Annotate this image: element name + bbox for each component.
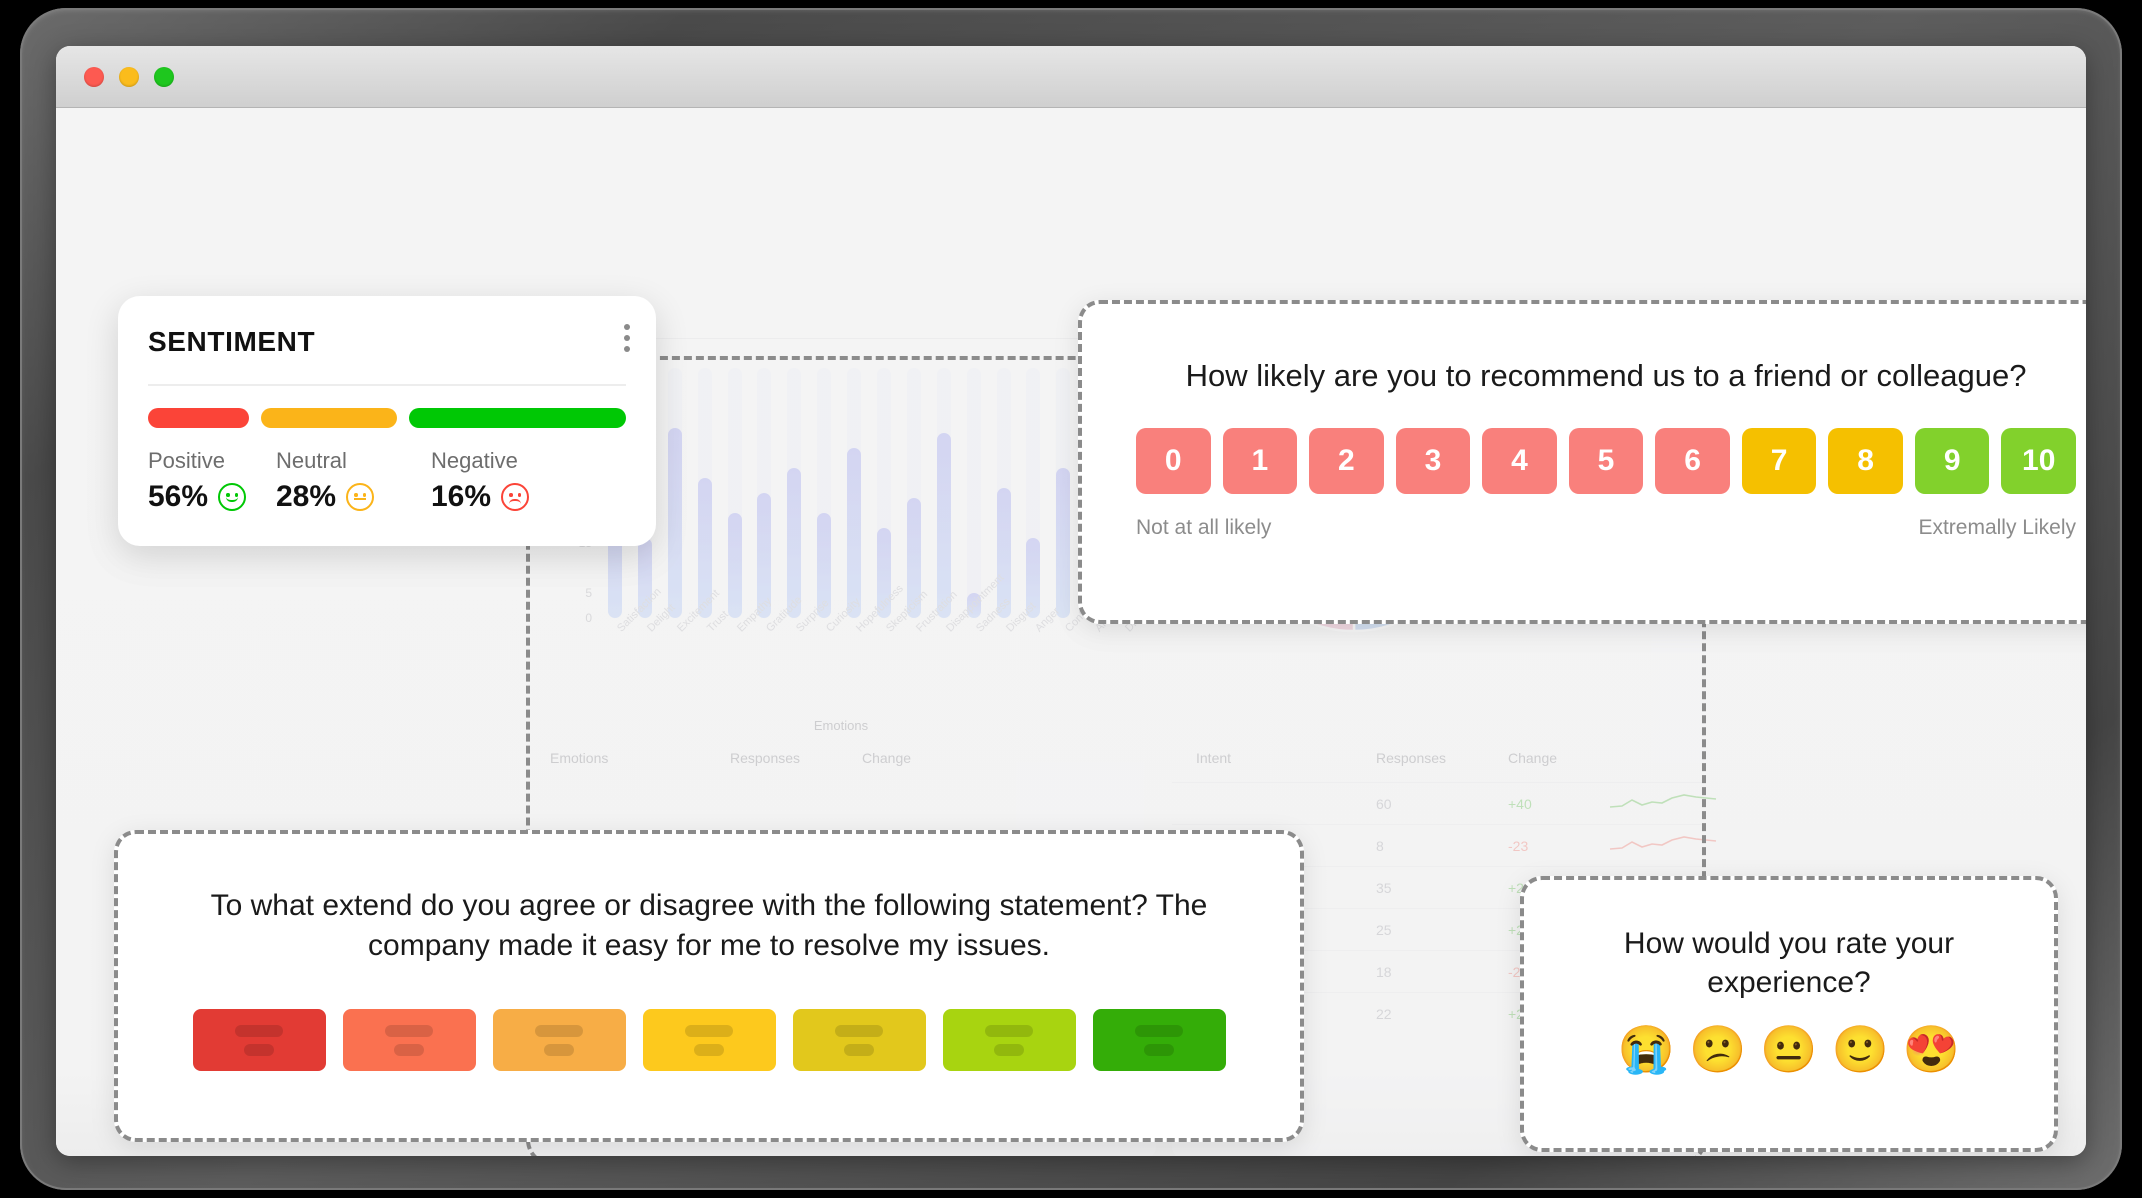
slightly-smiling-face-emoji[interactable]: 🙂	[1832, 1026, 1889, 1072]
nps-option-4[interactable]: 4	[1482, 428, 1557, 494]
bar-skepticism	[877, 368, 891, 618]
nps-option-3[interactable]: 3	[1396, 428, 1471, 494]
bar-trust	[698, 368, 712, 618]
page-title: SENTIMENT	[148, 326, 626, 358]
sentiment-stat-label: Negative	[431, 448, 529, 474]
minimize-window-button[interactable]	[119, 67, 139, 87]
sparkline-icon	[1608, 791, 1718, 816]
heart-eyes-face-emoji[interactable]: 😍	[1903, 1026, 1960, 1072]
window-titlebar	[56, 46, 2086, 108]
nps-option-6[interactable]: 6	[1655, 428, 1730, 494]
sad-face-icon	[501, 483, 529, 511]
nps-legend-right: Extremally Likely	[1918, 516, 2076, 540]
sentiment-stat-value: 16%	[431, 480, 529, 514]
cell-responses: 35	[1376, 880, 1508, 896]
bar-excitement	[668, 368, 682, 618]
neutral-face-emoji[interactable]: 😐	[1760, 1026, 1817, 1072]
confused-face-emoji[interactable]: 😕	[1689, 1026, 1746, 1072]
bar-surprise	[787, 368, 801, 618]
column-header-responses: Responses	[730, 750, 862, 766]
column-header-change: Change	[1508, 750, 1608, 766]
nps-question-text: How likely are you to recommend us to a …	[1136, 358, 2076, 394]
nps-question-card: How likely are you to recommend us to a …	[1078, 300, 2086, 624]
sentiment-stat-value: 28%	[276, 480, 431, 514]
column-header-change: Change	[862, 750, 962, 766]
bar-hopefulness	[847, 368, 861, 618]
agreement-question-card: To what extend do you agree or disagree …	[114, 830, 1304, 1142]
sentiment-stat-value: 56%	[148, 480, 276, 514]
kebab-menu-icon[interactable]	[624, 324, 630, 352]
nps-option-8[interactable]: 8	[1828, 428, 1903, 494]
nps-option-2[interactable]: 2	[1309, 428, 1384, 494]
bar-curiosity	[817, 368, 831, 618]
agreement-option-2[interactable]	[343, 1009, 476, 1071]
agreement-option-7[interactable]	[1093, 1009, 1226, 1071]
emotions-table-header: Emotions Responses Change	[526, 750, 1156, 782]
sentiment-bars	[148, 408, 626, 428]
agreement-option-4[interactable]	[643, 1009, 776, 1071]
cell-responses: 22	[1376, 1006, 1508, 1022]
app-canvas: Emotions 051520253035404550 Responses Em…	[56, 108, 2086, 1156]
nps-legend-left: Not at all likely	[1136, 516, 1271, 540]
bar-disappointment	[937, 368, 951, 618]
agreement-scale	[174, 1009, 1244, 1071]
close-window-button[interactable]	[84, 67, 104, 87]
sentiment-card: SENTIMENT Positive56%Neutral28%Negative1…	[118, 296, 656, 546]
agreement-option-1[interactable]	[193, 1009, 326, 1071]
intents-table-header: Intent Responses Change	[1172, 750, 1706, 782]
crying-face-emoji[interactable]: 😭	[1618, 1026, 1675, 1072]
divider	[148, 384, 626, 386]
nps-option-7[interactable]: 7	[1742, 428, 1817, 494]
nps-option-5[interactable]: 5	[1569, 428, 1644, 494]
bar-gratitude	[757, 368, 771, 618]
nps-option-1[interactable]: 1	[1223, 428, 1298, 494]
emotions-table: Emotions Responses Change	[526, 750, 1156, 782]
sentiment-stat-label: Positive	[148, 448, 276, 474]
sentiment-stat-negative: Negative16%	[431, 448, 529, 514]
sentiment-bar-negative	[148, 408, 249, 428]
sentiment-stats: Positive56%Neutral28%Negative16%	[148, 448, 626, 514]
rating-question-card: How would you rate your experience? 😭😕😐🙂…	[1520, 876, 2058, 1152]
column-header-emotions: Emotions	[550, 750, 730, 766]
maximize-window-button[interactable]	[154, 67, 174, 87]
sentiment-stat-label: Neutral	[276, 448, 431, 474]
agreement-option-3[interactable]	[493, 1009, 626, 1071]
happy-face-icon	[218, 483, 246, 511]
nps-option-10[interactable]: 10	[2001, 428, 2076, 494]
y-tick-label: 5	[566, 586, 592, 600]
bar-chart-x-axis-label: Emotions	[526, 718, 1156, 733]
nps-option-9[interactable]: 9	[1915, 428, 1990, 494]
cell-change: -23	[1508, 838, 1608, 854]
agreement-option-6[interactable]	[943, 1009, 1076, 1071]
y-tick-label: 0	[566, 611, 592, 625]
bar-confusion	[1056, 368, 1070, 618]
sentiment-bar-neutral	[261, 408, 397, 428]
neutral-face-icon	[346, 483, 374, 511]
nps-scale-legend: Not at all likely Extremally Likely	[1136, 516, 2076, 540]
sentiment-stat-neutral: Neutral28%	[276, 448, 431, 514]
bar-empathy	[728, 368, 742, 618]
table-row[interactable]: 60+40	[1172, 782, 1706, 824]
agreement-option-5[interactable]	[793, 1009, 926, 1071]
agreement-question-text: To what extend do you agree or disagree …	[174, 886, 1244, 965]
bar-frustration	[907, 368, 921, 618]
browser-window: Emotions 051520253035404550 Responses Em…	[56, 46, 2086, 1156]
cell-change: +40	[1508, 796, 1608, 812]
nps-option-0[interactable]: 0	[1136, 428, 1211, 494]
rating-emoji-scale: 😭😕😐🙂😍	[1564, 1026, 2014, 1072]
nps-scale: 012345678910	[1136, 428, 2076, 494]
rating-question-text: How would you rate your experience?	[1564, 924, 2014, 1002]
sentiment-stat-positive: Positive56%	[148, 448, 276, 514]
emotions-bar-chart	[600, 368, 1138, 618]
column-header-intent: Intent	[1196, 750, 1376, 766]
bar-sadness	[967, 368, 981, 618]
sparkline-icon	[1608, 833, 1718, 858]
cell-responses: 60	[1376, 796, 1508, 812]
bar-anger	[1026, 368, 1040, 618]
device-bezel: Emotions 051520253035404550 Responses Em…	[20, 8, 2122, 1190]
cell-responses: 18	[1376, 964, 1508, 980]
sentiment-bar-positive	[409, 408, 626, 428]
column-header-responses: Responses	[1376, 750, 1508, 766]
cell-responses: 8	[1376, 838, 1508, 854]
cell-responses: 25	[1376, 922, 1508, 938]
